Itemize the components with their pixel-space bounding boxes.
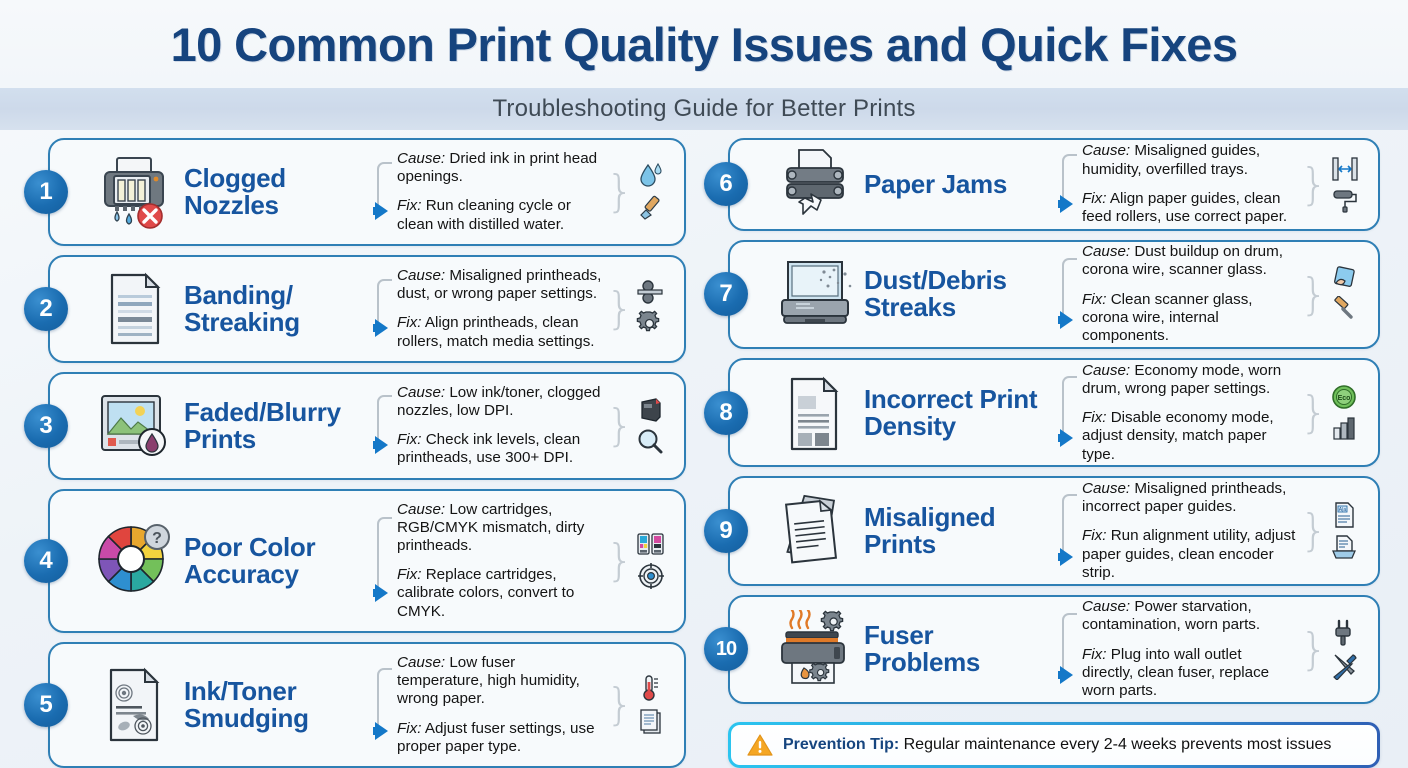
card-text-block: Cause: Misaligned printheads, dust, or w… [375, 267, 602, 351]
card-text-block: Cause: Low ink/toner, clogged nozzles, l… [375, 384, 602, 468]
fix-line: Fix: Check ink levels, clean printheads,… [397, 431, 602, 467]
card-text-block: Cause: Dried ink in print head openings.… [375, 150, 602, 234]
eco-badge-icon: Eco [1330, 384, 1358, 410]
fix-text: Run alignment utility, adjust paper guid… [1082, 527, 1295, 580]
cause-line: Cause: Dust buildup on drum, corona wire… [1082, 243, 1296, 279]
fix-arrow-icon [1060, 311, 1073, 329]
brace-decoration: } [1300, 395, 1328, 430]
tools-icon [1330, 652, 1358, 680]
brace-decoration: } [606, 291, 634, 326]
paper-stack-icon [636, 707, 664, 735]
card-text-block: Cause: Economy mode, worn drum, wrong pa… [1060, 362, 1296, 464]
calibration-target-icon [637, 562, 665, 590]
card-number-badge: 9 [704, 509, 748, 553]
cause-label: Cause: [397, 501, 445, 518]
fix-arrow-icon [375, 584, 388, 602]
fix-text: Plug into wall outlet directly, clean fu… [1082, 646, 1269, 699]
connector-lines [375, 384, 397, 468]
paper-guides-icon [1330, 156, 1360, 182]
cause-line: Cause: Misaligned printheads, incorrect … [1082, 480, 1296, 516]
fix-label: Fix: [1082, 291, 1106, 308]
brace-decoration: } [1300, 632, 1328, 667]
cmyk-cartridges-icon [636, 531, 666, 557]
brace-decoration: } [606, 408, 634, 443]
fix-text: Check ink levels, clean printheads, use … [397, 431, 580, 466]
fix-text: Run cleaning cycle or clean with distill… [397, 197, 571, 232]
gray-density-document-icon [772, 372, 858, 454]
card-tail: } [606, 161, 672, 222]
cause-label: Cause: [1082, 480, 1130, 497]
cause-label: Cause: [1082, 243, 1130, 260]
brace-decoration: } [606, 174, 634, 209]
card-number-badge: 4 [24, 539, 68, 583]
page-header: 10 Common Print Quality Issues and Quick… [0, 0, 1408, 88]
printed-page-out-icon [1330, 534, 1358, 560]
bar-levels-icon [1330, 415, 1358, 441]
fix-label: Fix: [1082, 190, 1106, 207]
prevention-tip-body: Regular maintenance every 2-4 weeks prev… [904, 736, 1332, 753]
fix-arrow-icon [1060, 195, 1073, 213]
prevention-tip-banner[interactable]: Prevention Tip: Regular maintenance ever… [728, 722, 1380, 768]
cards-columns: 1 [0, 130, 1408, 768]
fix-line: Fix: Align printheads, clean rollers, ma… [397, 314, 602, 350]
fix-arrow-icon [375, 319, 388, 337]
cause-line: Cause: Low fuser temperature, high humid… [397, 654, 602, 709]
fix-line: Fix: Plug into wall outlet directly, cle… [1082, 646, 1296, 701]
card-title: Incorrect Print Density [864, 386, 1054, 440]
card-title: Banding/ Streaking [184, 282, 369, 336]
roller-pair-icon [636, 279, 664, 305]
card-title: Paper Jams [864, 171, 1054, 198]
issue-card-banding-streaking[interactable]: 2 Banding/ Streaking [48, 255, 686, 363]
card-title: Fuser Problems [864, 622, 1054, 676]
fuser-heat-printer-icon [772, 608, 858, 690]
subtitle-band: Troubleshooting Guide for Better Prints [0, 88, 1408, 130]
cause-label: Cause: [397, 384, 445, 401]
color-wheel-question-icon: ? [92, 520, 178, 602]
fix-label: Fix: [397, 566, 421, 583]
fix-label: Fix: [397, 197, 421, 214]
connector-lines [375, 267, 397, 351]
fix-line: Fix: Replace cartridges, calibrate color… [397, 566, 602, 621]
card-tail: } [1300, 265, 1366, 324]
svg-text:Eco: Eco [1338, 395, 1351, 402]
fix-text: Align paper guides, clean feed rollers, … [1082, 190, 1287, 225]
card-text-block: Cause: Misaligned guides, humidity, over… [1060, 142, 1296, 226]
card-text-block: Cause: Low fuser temperature, high humid… [375, 654, 602, 756]
fix-text: Adjust fuser settings, use proper paper … [397, 720, 595, 755]
alignment-page-icon: A|a [1331, 501, 1357, 529]
magnifier-icon [636, 427, 664, 455]
fix-line: Fix: Disable economy mode, adjust densit… [1082, 409, 1296, 464]
issue-card-faded-blurry-prints[interactable]: 3 Faded/Blurry Prints [48, 372, 686, 480]
issue-card-dust-debris-streaks[interactable]: 7 Dust/Debris Streaks [728, 240, 1380, 349]
card-text-block: Cause: Power starvation, contamination, … [1060, 598, 1296, 700]
card-title: Faded/Blurry Prints [184, 399, 369, 453]
brace-decoration: } [1300, 513, 1328, 548]
fix-arrow-icon [1060, 548, 1073, 566]
cause-label: Cause: [1082, 362, 1130, 379]
warning-triangle-icon [747, 733, 773, 757]
card-number-badge: 3 [24, 404, 68, 448]
card-text-block: Cause: Low cartridges, RGB/CMYK mismatch… [375, 501, 602, 621]
power-plug-icon [1331, 619, 1357, 647]
cause-line: Cause: Economy mode, worn drum, wrong pa… [1082, 362, 1296, 398]
cause-line: Cause: Low cartridges, RGB/CMYK mismatch… [397, 501, 602, 556]
fix-label: Fix: [397, 431, 421, 448]
ink-cartridge-icon [636, 396, 664, 422]
card-title: Misaligned Prints [864, 504, 1054, 558]
card-tail: } [606, 396, 672, 455]
connector-lines [375, 150, 397, 234]
fix-label: Fix: [1082, 646, 1106, 663]
photo-with-ink-drop-icon [92, 385, 178, 467]
card-number-badge: 10 [704, 627, 748, 671]
fix-arrow-icon [1060, 666, 1073, 684]
connector-lines [1060, 598, 1082, 700]
prevention-tip-text: Prevention Tip: Regular maintenance ever… [783, 736, 1331, 754]
connector-lines [1060, 480, 1082, 582]
issue-card-misaligned-prints[interactable]: 9 Misaligned Prints [728, 476, 1380, 585]
fix-label: Fix: [397, 720, 421, 737]
prevention-tip-label: Prevention Tip: [783, 736, 899, 753]
card-number-badge: 2 [24, 287, 68, 331]
printer-crumpled-paper-icon [772, 143, 858, 225]
smudged-document-icon [92, 664, 178, 746]
cause-label: Cause: [1082, 142, 1130, 159]
fix-text: Clean scanner glass, corona wire, intern… [1082, 291, 1253, 344]
thermometer-icon [637, 674, 663, 702]
fix-arrow-icon [375, 202, 388, 220]
card-tail: } [606, 674, 672, 735]
connector-lines [1060, 362, 1082, 464]
paintbrush-icon [636, 194, 664, 222]
card-tail: } [1300, 619, 1366, 680]
card-number-badge: 8 [704, 391, 748, 435]
card-number-badge: 5 [24, 683, 68, 727]
brace-decoration: } [1300, 167, 1328, 202]
card-number-badge: 1 [24, 170, 68, 214]
svg-text:A|a: A|a [1339, 507, 1347, 513]
card-tail: } [606, 531, 672, 590]
cause-line: Cause: Dried ink in print head openings. [397, 150, 602, 186]
card-tail: } [1300, 156, 1366, 213]
gear-icon [636, 310, 664, 338]
card-text-block: Cause: Misaligned printheads, incorrect … [1060, 480, 1296, 582]
card-number-badge: 7 [704, 272, 748, 316]
brush-icon [1330, 296, 1358, 324]
left-column: 1 [34, 138, 698, 768]
fix-arrow-icon [375, 722, 388, 740]
cause-label: Cause: [397, 654, 445, 671]
fix-line: Fix: Adjust fuser settings, use proper p… [397, 720, 602, 756]
brace-decoration: } [606, 687, 634, 722]
issue-card-fuser-problems[interactable]: 10 [728, 595, 1380, 704]
fix-line: Fix: Run cleaning cycle or clean with di… [397, 197, 602, 233]
fix-line: Fix: Run alignment utility, adjust paper… [1082, 527, 1296, 582]
card-title: Poor Color Accuracy [184, 534, 369, 588]
card-tail: } Eco [1300, 384, 1366, 441]
fix-label: Fix: [1082, 409, 1106, 426]
right-column: 6 Paper Jams Cause: [698, 138, 1380, 768]
fix-text: Disable economy mode, adjust density, ma… [1082, 409, 1274, 462]
skewed-pages-icon [772, 490, 858, 572]
fix-label: Fix: [1082, 527, 1106, 544]
cause-line: Cause: Misaligned guides, humidity, over… [1082, 142, 1296, 178]
fix-line: Fix: Clean scanner glass, corona wire, i… [1082, 291, 1296, 346]
cause-line: Cause: Low ink/toner, clogged nozzles, l… [397, 384, 602, 420]
fix-text: Align printheads, clean rollers, match m… [397, 314, 595, 349]
fix-arrow-icon [1060, 429, 1073, 447]
issue-card-ink-toner-smudging[interactable]: 5 Ink/Toner Smudging [48, 642, 686, 768]
page-subtitle: Troubleshooting Guide for Better Prints [492, 95, 915, 123]
connector-lines [1060, 142, 1082, 226]
fix-text: Replace cartridges, calibrate colors, co… [397, 566, 574, 619]
issue-card-paper-jams[interactable]: 6 Paper Jams Cause: [728, 138, 1380, 231]
water-drop-icon [636, 161, 664, 189]
striped-document-icon [92, 268, 178, 350]
scanner-dust-icon [772, 253, 858, 335]
cause-line: Cause: Power starvation, contamination, … [1082, 598, 1296, 634]
connector-lines [375, 654, 397, 756]
card-tail: } [606, 279, 672, 338]
issue-card-incorrect-print-density[interactable]: 8 Incorrect Print Density [728, 358, 1380, 467]
card-title: Ink/Toner Smudging [184, 678, 369, 732]
card-text-block: Cause: Dust buildup on drum, corona wire… [1060, 243, 1296, 345]
cleaning-cloth-icon [1330, 265, 1358, 291]
cause-label: Cause: [1082, 598, 1130, 615]
svg-text:?: ? [152, 530, 162, 547]
brace-decoration: } [1300, 277, 1328, 312]
fix-line: Fix: Align paper guides, clean feed roll… [1082, 190, 1296, 226]
connector-lines [1060, 243, 1082, 345]
issue-card-clogged-nozzles[interactable]: 1 [48, 138, 686, 246]
cleaning-roller-icon [1330, 187, 1360, 213]
fix-label: Fix: [397, 314, 421, 331]
fix-arrow-icon [375, 436, 388, 454]
issue-card-poor-color-accuracy[interactable]: 4 ? [48, 489, 686, 633]
connector-lines [375, 501, 397, 621]
cause-label: Cause: [397, 150, 445, 167]
card-number-badge: 6 [704, 162, 748, 206]
cause-label: Cause: [397, 267, 445, 284]
card-tail: } A|a [1300, 501, 1366, 560]
card-title: Clogged Nozzles [184, 165, 369, 219]
cause-line: Cause: Misaligned printheads, dust, or w… [397, 267, 602, 303]
card-title: Dust/Debris Streaks [864, 267, 1054, 321]
page-title: 10 Common Print Quality Issues and Quick… [171, 17, 1238, 72]
brace-decoration: } [606, 543, 634, 578]
printer-dripping-ink-icon [92, 151, 178, 233]
